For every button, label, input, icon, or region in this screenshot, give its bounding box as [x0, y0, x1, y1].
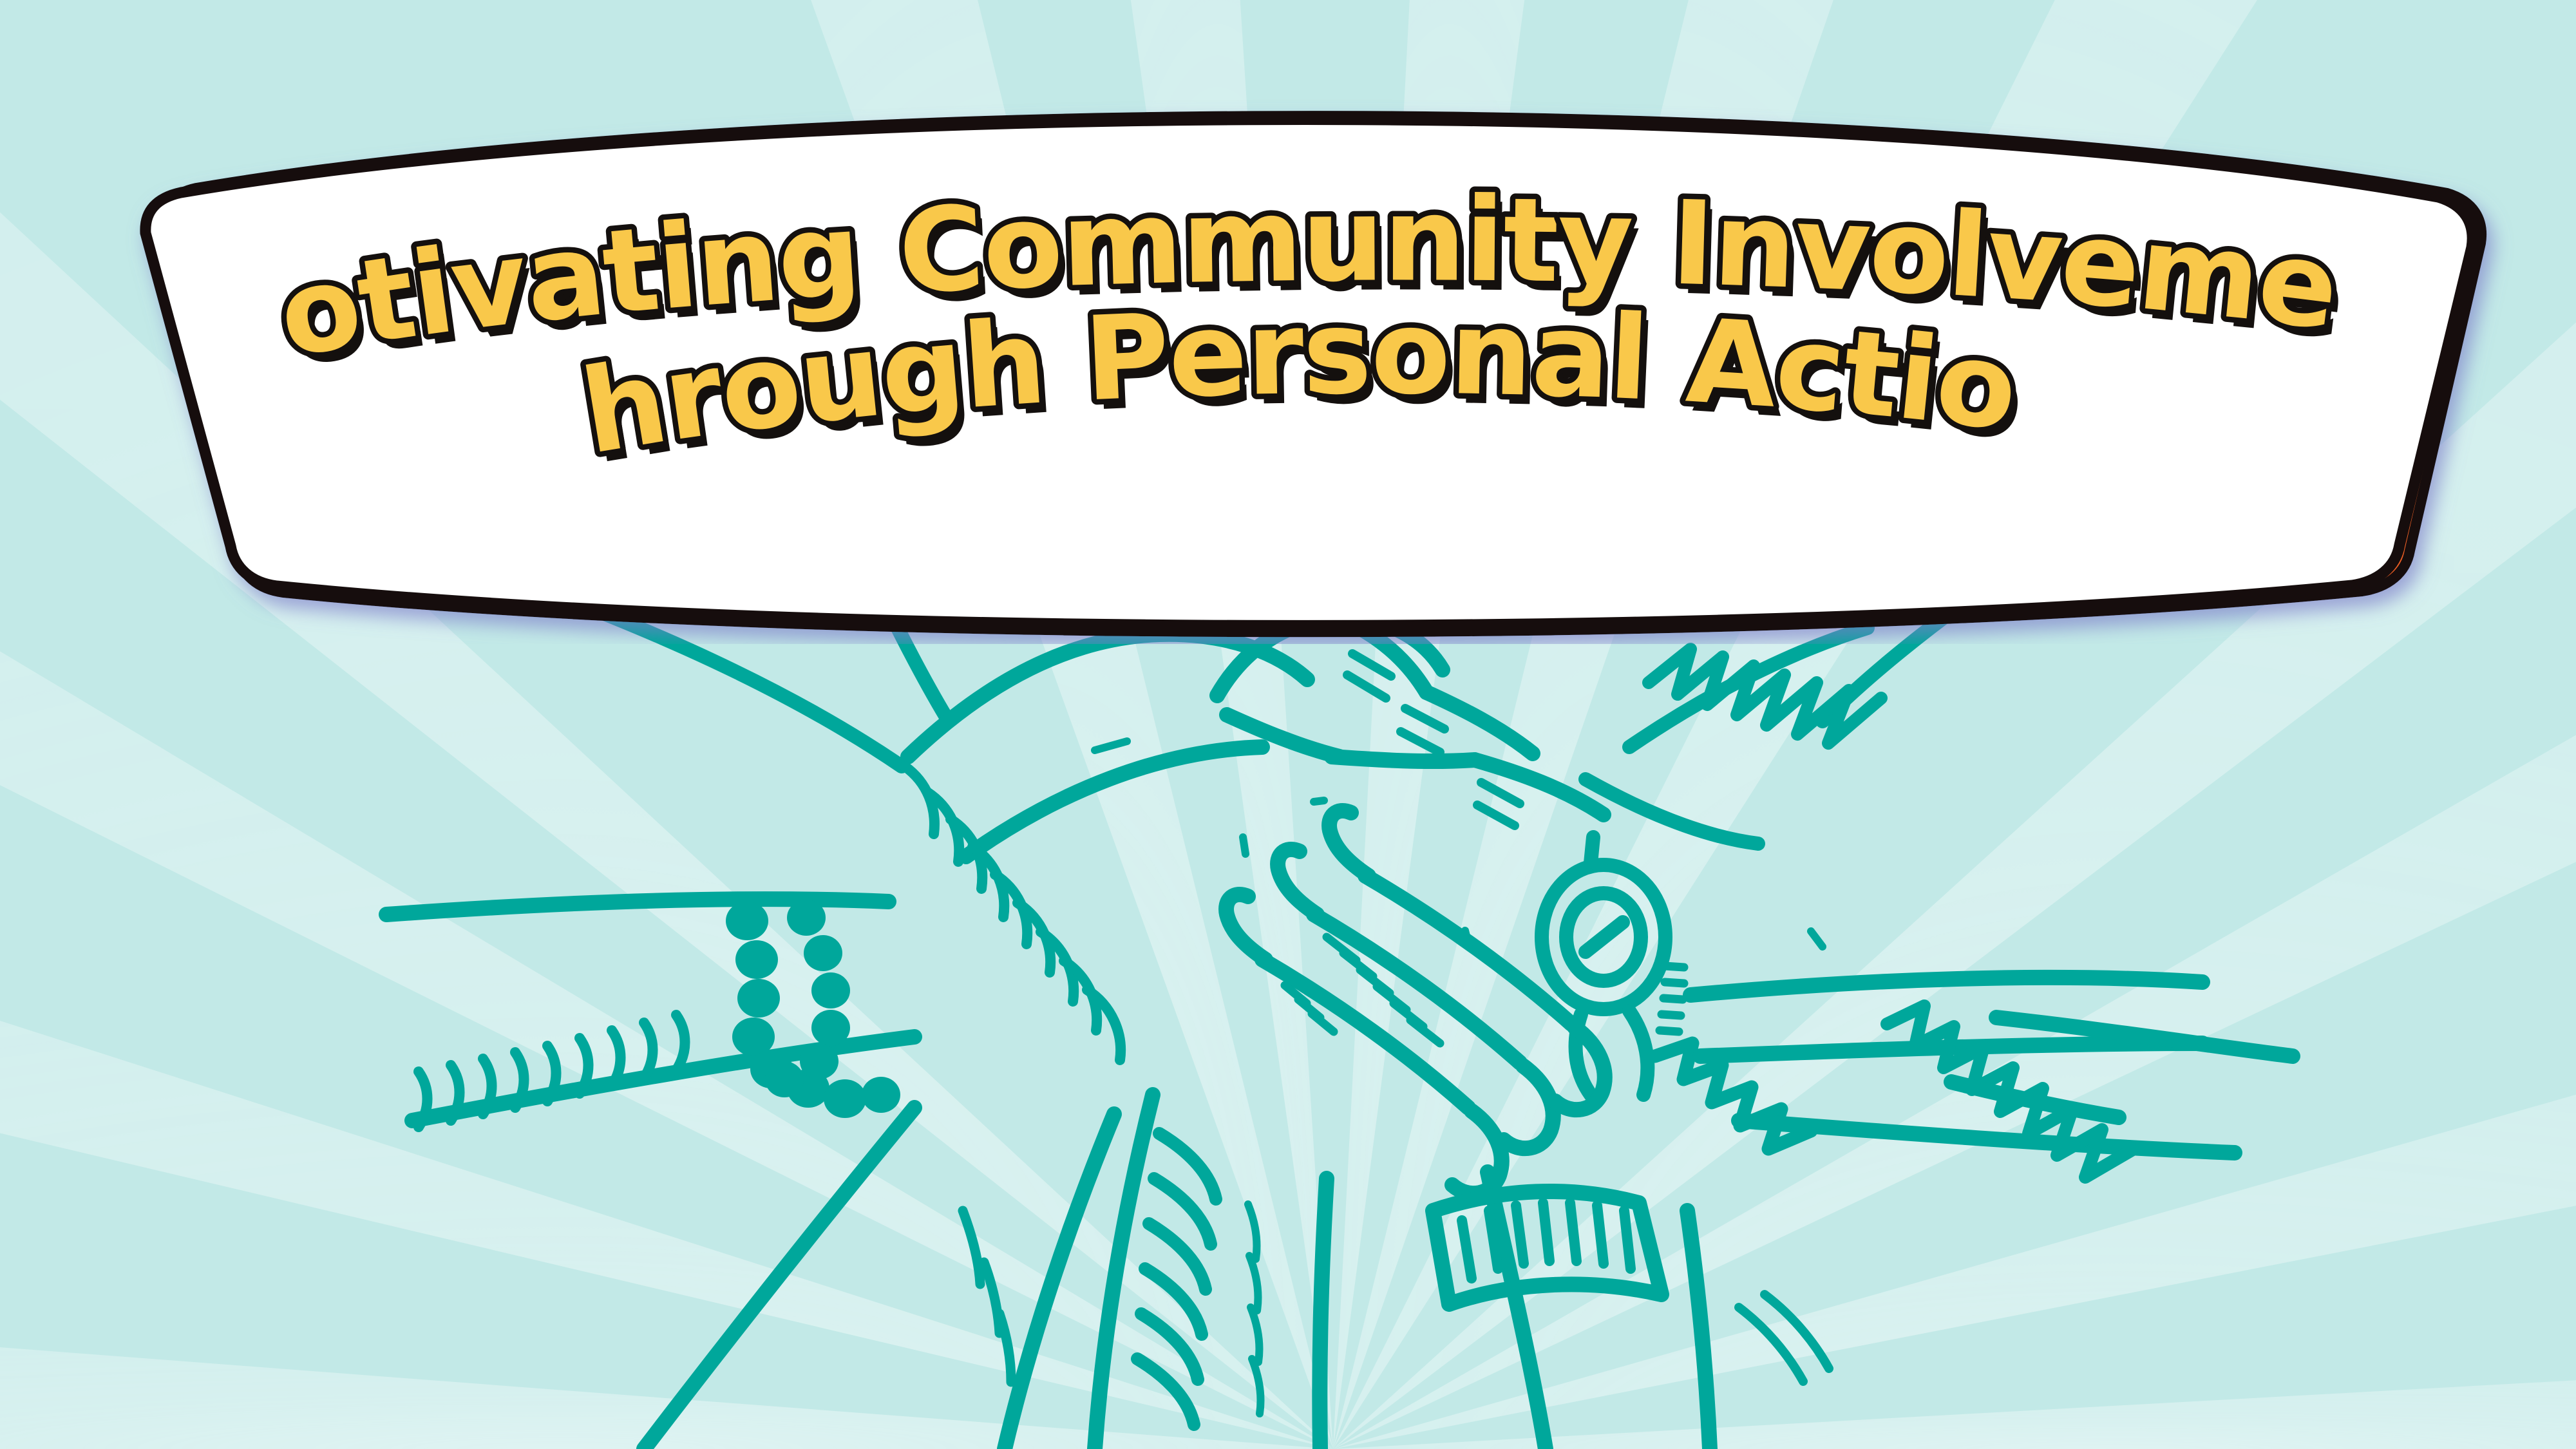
poster-canvas: Motivating Community Involvement Motivat…	[0, 0, 2576, 1449]
title-banner: Motivating Community Involvement Motivat…	[0, 0, 2576, 644]
banner-white-panel	[146, 120, 2472, 626]
